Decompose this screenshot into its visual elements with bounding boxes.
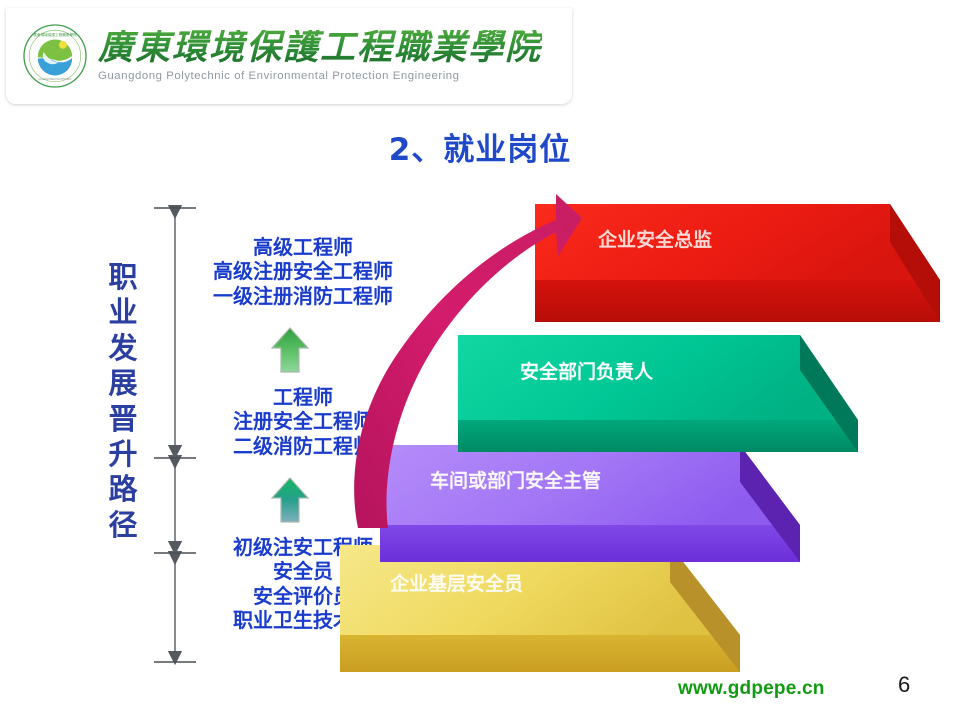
page-title: 2、就业岗位 [0,124,960,169]
axis-label-char: 升 [100,437,146,472]
career-path-vertical-label: 职 业 发 展 晋 升 路 径 [100,260,146,543]
curved-growth-arrow-icon [330,180,640,540]
axis-label-char: 职 [100,260,146,295]
logo-text: 廣東環境保護工程職業學院 Guangdong Polytechnic of En… [98,30,542,83]
axis-label-char: 展 [100,366,146,401]
logo-title-en: Guangdong Polytechnic of Environmental P… [98,70,542,82]
up-arrow-icon [268,476,312,524]
footer-url[interactable]: www.gdpepe.cn [678,678,825,700]
axis-label-char: 径 [100,508,146,543]
svg-text:GUANGDONG POLYTECHNIC: GUANGDONG POLYTECHNIC [39,78,72,81]
page-number: 6 [898,672,910,698]
logo-title-cn: 廣東環境保護工程職業學院 [98,30,542,67]
step-label-1: 企业基层安全员 [389,572,523,595]
axis-label-char: 业 [100,295,146,330]
logo-header-band: 廣東環境保護工程職業學院 GUANGDONG POLYTECHNIC 廣東環境保… [6,8,572,104]
step-slab-1: 企业基层安全员 [340,545,740,672]
axis-label-char: 晋 [100,402,146,437]
svg-text:廣東環境保護工程職業學院: 廣東環境保護工程職業學院 [33,32,77,37]
up-arrow-icon [268,326,312,374]
axis-label-char: 发 [100,331,146,366]
axis-label-char: 路 [100,472,146,507]
school-emblem-icon: 廣東環境保護工程職業學院 GUANGDONG POLYTECHNIC [22,23,88,89]
career-path-diagram: 职 业 发 展 晋 升 路 径 高级工程师 高级注册安全工程师 一级注册消防工程… [0,180,960,680]
